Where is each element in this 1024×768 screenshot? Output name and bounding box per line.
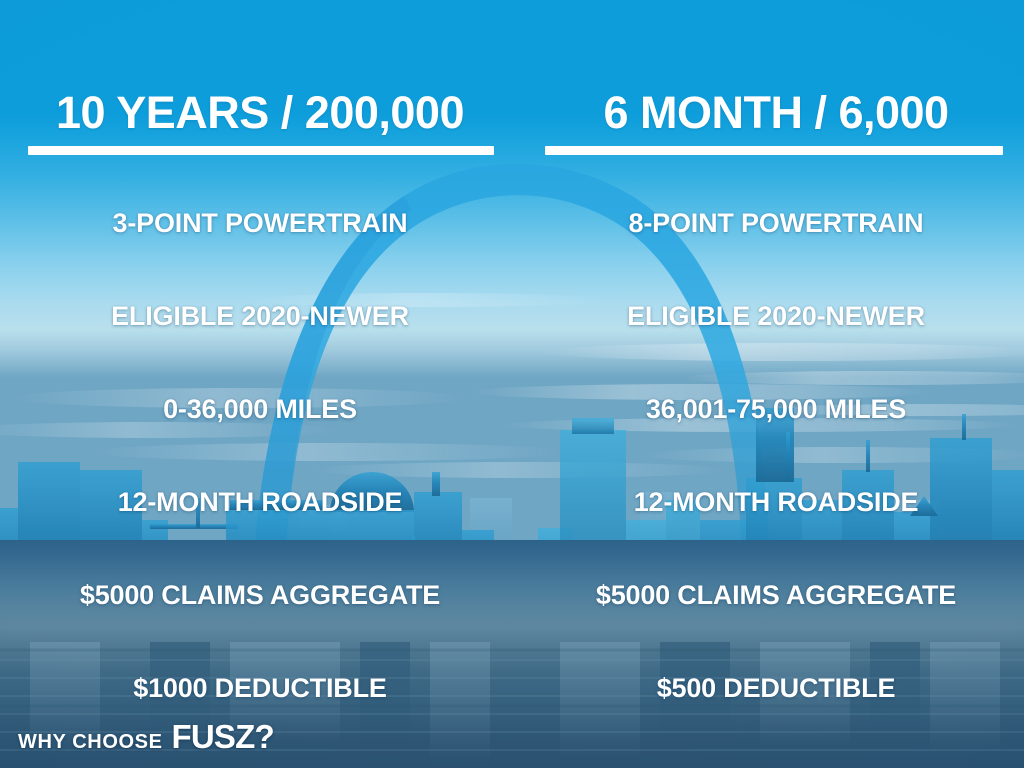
logo-prefix-text: WHY CHOOSE [18,731,163,754]
plan-title-underline-left [28,146,494,155]
feature-list-left: 3-POINT POWERTRAIN ELIGIBLE 2020-NEWER 0… [0,155,512,735]
plan-title-left: 10 YEARS / 200,000 [0,88,512,138]
plan-header-right: 6 MONTH / 6,000 [512,0,1024,155]
why-choose-fusz-logo: WHY CHOOSE FUSZ? [18,718,274,756]
feature-item: ELIGIBLE 2020-NEWER [0,270,512,363]
feature-item: $500 DEDUCTIBLE [512,642,1024,735]
plan-title-underline-right [545,146,1003,155]
feature-item: 36,001-75,000 MILES [512,363,1024,456]
plan-column-10-year: 10 YEARS / 200,000 3-POINT POWERTRAIN EL… [0,0,512,735]
feature-item: $5000 CLAIMS AGGREGATE [0,549,512,642]
feature-item: 8-POINT POWERTRAIN [512,177,1024,270]
feature-item: 12-MONTH ROADSIDE [512,456,1024,549]
feature-list-right: 8-POINT POWERTRAIN ELIGIBLE 2020-NEWER 3… [512,155,1024,735]
comparison-columns: 10 YEARS / 200,000 3-POINT POWERTRAIN EL… [0,0,1024,735]
feature-item: ELIGIBLE 2020-NEWER [512,270,1024,363]
plan-title-right: 6 MONTH / 6,000 [512,88,1024,138]
feature-item: 0-36,000 MILES [0,363,512,456]
feature-item: $5000 CLAIMS AGGREGATE [512,549,1024,642]
warranty-comparison-graphic: 10 YEARS / 200,000 3-POINT POWERTRAIN EL… [0,0,1024,768]
feature-item: 3-POINT POWERTRAIN [0,177,512,270]
overlay-content: 10 YEARS / 200,000 3-POINT POWERTRAIN EL… [0,0,1024,768]
feature-item: 12-MONTH ROADSIDE [0,456,512,549]
plan-column-6-month: 6 MONTH / 6,000 8-POINT POWERTRAIN ELIGI… [512,0,1024,735]
plan-header-left: 10 YEARS / 200,000 [0,0,512,155]
logo-brand-text: FUSZ? [172,718,274,756]
